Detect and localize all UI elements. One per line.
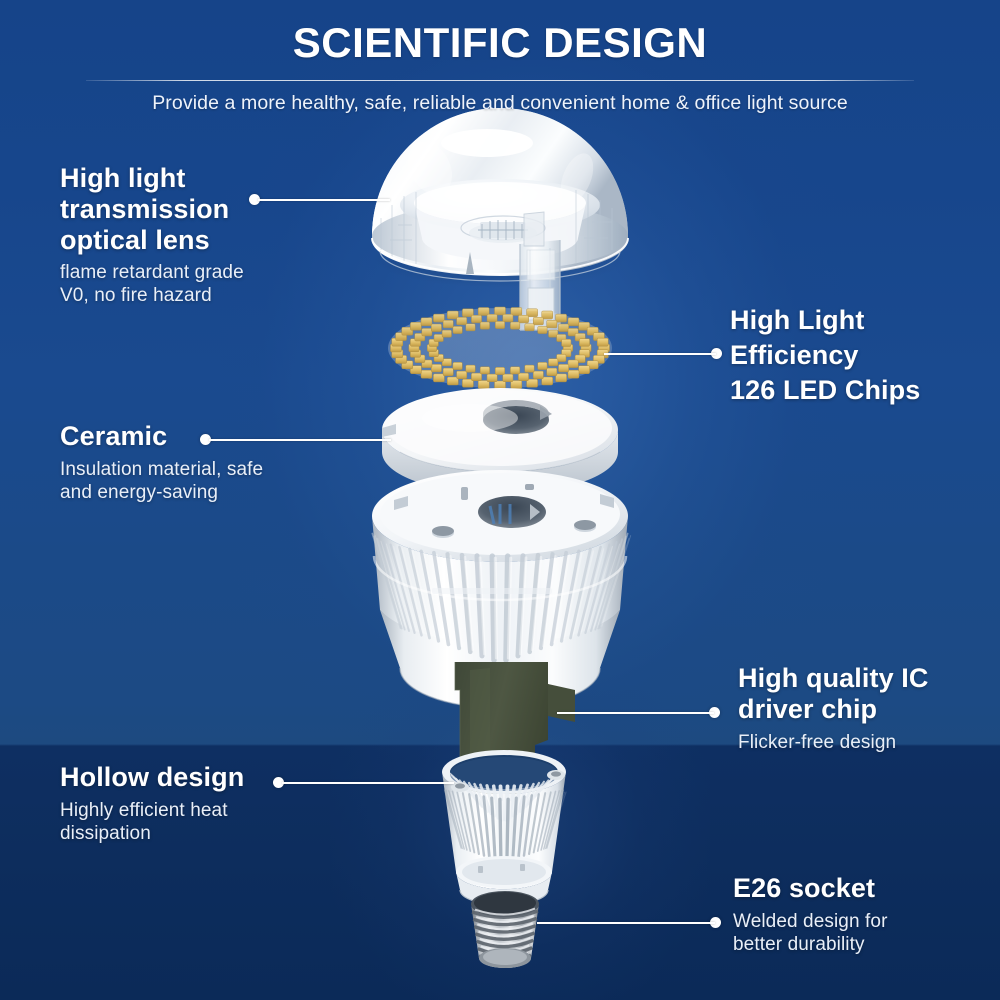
callout-ceramic: Ceramic Insulation material, safe and en… (60, 421, 380, 504)
part-optical-lens (372, 108, 628, 330)
callout-ic-driver-chip-subtitle: Flicker-free design (738, 732, 988, 755)
leader-line-e26-socket (537, 922, 715, 924)
callout-led-chips-title: High Light Efficiency 126 LED Chips (730, 303, 985, 408)
part-ceramic-disc (382, 388, 618, 494)
callout-e26-socket-subtitle: Welded design for better durability (733, 911, 983, 957)
infographic-canvas: SCIENTIFIC DESIGN Provide a more healthy… (0, 0, 1000, 1000)
leader-line-led-chips (604, 353, 716, 355)
part-led-chip-ring (388, 307, 612, 389)
page-title: SCIENTIFIC DESIGN (0, 0, 1000, 64)
leader-line-hollow-design (282, 782, 454, 784)
callout-led-chips: High Light Efficiency 126 LED Chips (730, 303, 985, 408)
callout-e26-socket: E26 socket Welded design for better dura… (733, 873, 983, 956)
callout-ic-driver-chip: High quality IC driver chip Flicker-free… (738, 663, 988, 754)
callout-ic-driver-chip-title: High quality IC driver chip (738, 663, 988, 725)
part-heat-sink (372, 470, 631, 708)
callout-hollow-design-subtitle: Highly efficient heat dissipation (60, 800, 380, 846)
callout-optical-lens: High light transmission optical lens fla… (60, 163, 360, 308)
page-subtitle: Provide a more healthy, safe, reliable a… (0, 81, 1000, 115)
background-glow-lower (330, 690, 710, 1000)
part-e26-socket (471, 891, 539, 968)
callout-e26-socket-title: E26 socket (733, 873, 983, 904)
callout-optical-lens-title: High light transmission optical lens (60, 163, 360, 255)
callout-ceramic-title: Ceramic (60, 421, 380, 452)
part-ic-driver-board (455, 662, 575, 838)
leader-line-optical-lens (258, 199, 390, 201)
callout-hollow-design-title: Hollow design (60, 762, 380, 793)
callout-hollow-design: Hollow design Highly efficient heat diss… (60, 762, 380, 845)
part-hollow-base-housing (442, 750, 566, 905)
lens-connector-post (520, 240, 560, 330)
callout-ceramic-subtitle: Insulation material, safe and energy-sav… (60, 459, 380, 505)
callout-optical-lens-subtitle: flame retardant grade V0, no fire hazard (60, 262, 360, 308)
header: SCIENTIFIC DESIGN Provide a more healthy… (0, 0, 1000, 115)
leader-line-ceramic (209, 439, 391, 441)
leader-line-ic-driver-chip (557, 712, 714, 714)
